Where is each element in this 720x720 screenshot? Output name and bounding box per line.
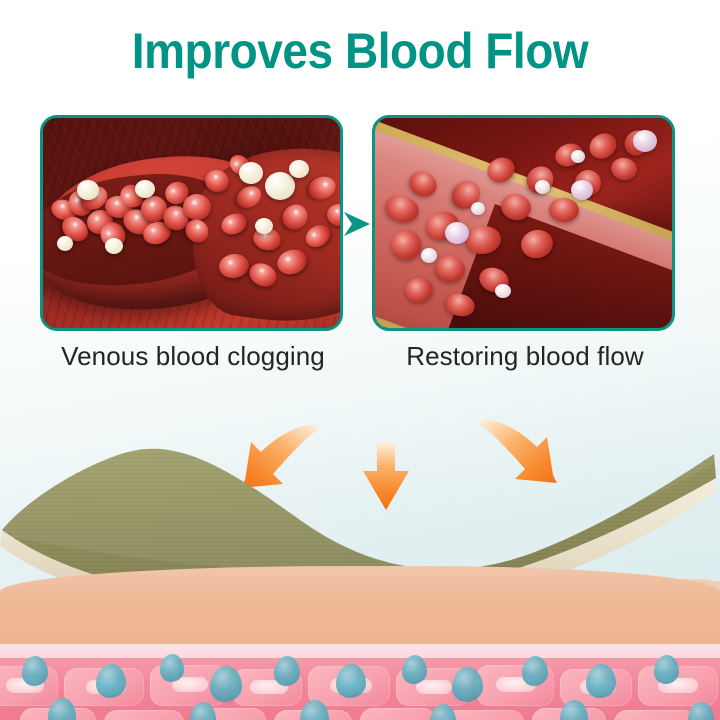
- comparison-panel-after: [372, 115, 675, 331]
- healthy-blood-vessel-illustration: [375, 118, 672, 328]
- marketing-graphic: Improves Blood Flow: [0, 0, 720, 720]
- dermis-layer: [0, 658, 720, 720]
- skin-cross-section: [0, 575, 720, 720]
- comparison-panel-before: [40, 115, 343, 331]
- caption-after: Restoring blood flow: [380, 341, 670, 372]
- clogged-vein-illustration: [43, 118, 340, 328]
- epidermis-layer: [0, 566, 720, 652]
- caption-before: Venous blood clogging: [48, 341, 338, 372]
- page-title: Improves Blood Flow: [29, 22, 691, 80]
- chevron-right-icon: [341, 209, 373, 239]
